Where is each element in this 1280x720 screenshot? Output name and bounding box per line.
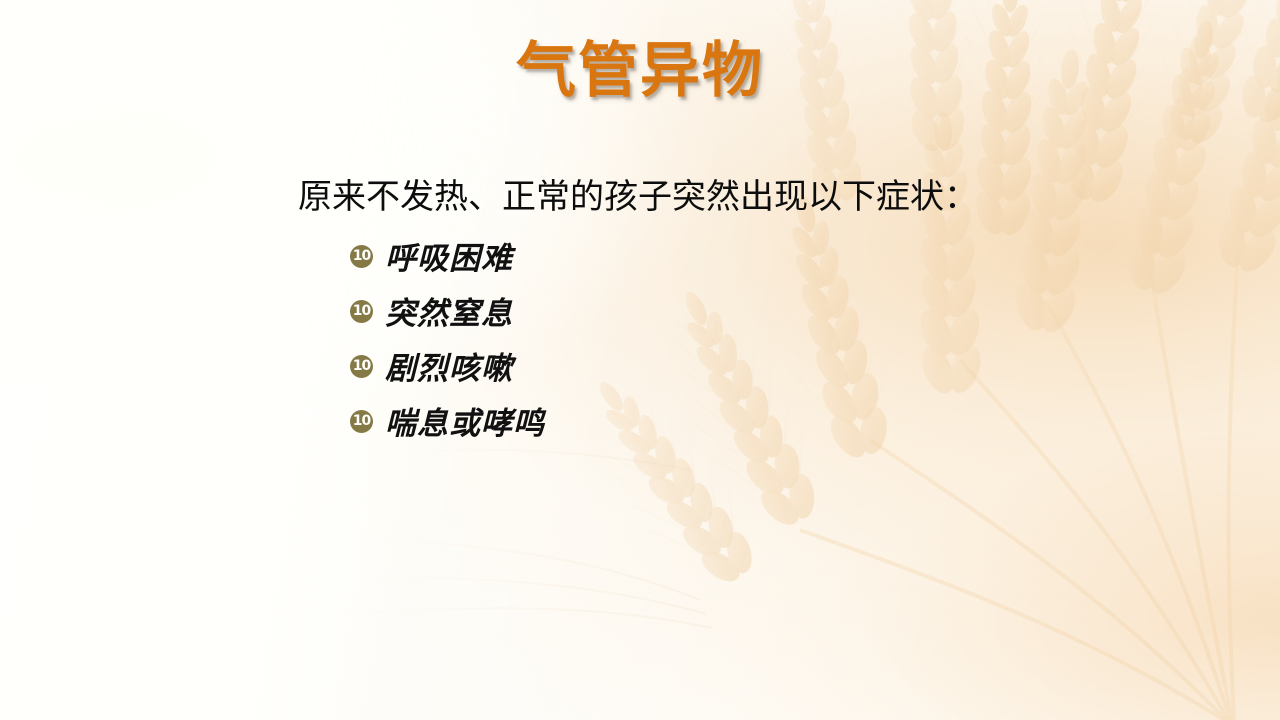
list-item: 10 喘息或哮鸣 [350, 393, 1078, 448]
slide-title: 气管异物 [0, 38, 1280, 105]
list-item: 10 剧烈咳嗽 [350, 338, 1078, 393]
circled-ten-icon: 10 [350, 355, 373, 378]
list-item-label: 剧烈咳嗽 [385, 343, 513, 388]
list-item-label: 突然窒息 [385, 288, 513, 333]
slide-content: 气管异物 原来不发热、正常的孩子突然出现以下症状： 10 呼吸困难 10 突然窒… [0, 0, 1280, 720]
list-item-label: 喘息或哮鸣 [385, 398, 545, 443]
list-item-label: 呼吸困难 [385, 233, 513, 278]
circled-ten-icon: 10 [350, 410, 373, 433]
list-item: 10 突然窒息 [350, 283, 1078, 338]
circled-ten-icon: 10 [350, 300, 373, 323]
slide: 气管异物 原来不发热、正常的孩子突然出现以下症状： 10 呼吸困难 10 突然窒… [0, 0, 1280, 720]
list-item: 10 呼吸困难 [350, 228, 1078, 283]
slide-body: 原来不发热、正常的孩子突然出现以下症状： 10 呼吸困难 10 突然窒息 10 … [298, 178, 1078, 448]
symptom-list: 10 呼吸困难 10 突然窒息 10 剧烈咳嗽 10 喘息或哮鸣 [350, 228, 1078, 448]
lead-paragraph: 原来不发热、正常的孩子突然出现以下症状： [298, 178, 1078, 216]
circled-ten-icon: 10 [350, 245, 373, 268]
